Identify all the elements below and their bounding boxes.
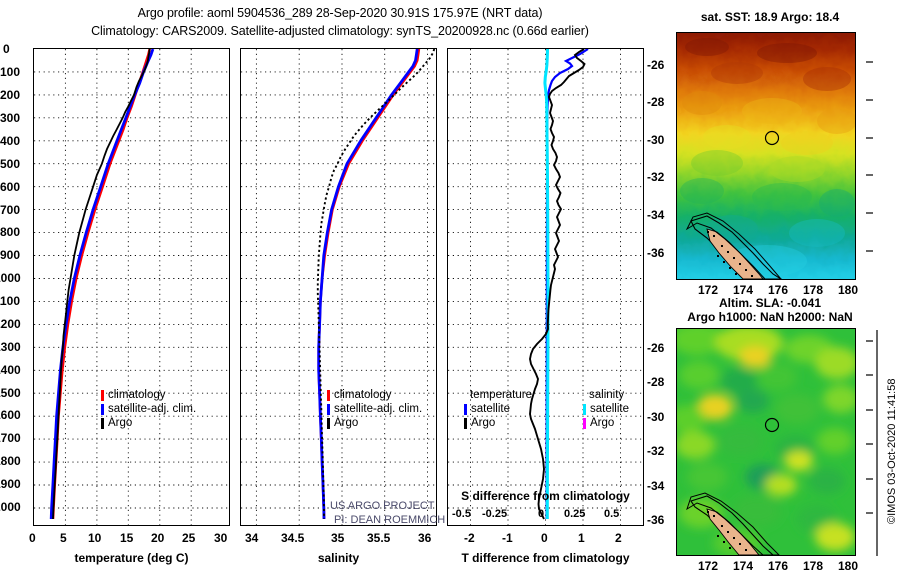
salinity-xtick: 34.5 (281, 531, 304, 545)
argo-swatch (101, 418, 104, 429)
sla-lon-tick: 174 (733, 559, 753, 573)
sla-lat-tick: -34 (647, 479, 664, 493)
sla-lat-tick: -26 (647, 341, 664, 355)
salinity-xtick: 35 (331, 531, 344, 545)
difference-s-xtick: -0.25 (482, 508, 507, 520)
sal-argo-swatch (583, 418, 586, 429)
depth-tick: 1600 (0, 408, 21, 422)
difference-t-xtick: -1 (502, 531, 513, 545)
temperature-xtick: 30 (214, 531, 227, 545)
legend-item: satellite (464, 402, 532, 416)
sst-lat-tick: -36 (647, 246, 664, 260)
difference-temperature-legend: temperature satellite Argo (464, 388, 532, 430)
climatology-swatch (101, 390, 104, 401)
legend-label: Argo (590, 416, 614, 430)
salinity-xtick: 36 (418, 531, 431, 545)
depth-tick: 1000 (0, 271, 21, 285)
depth-tick: 500 (0, 157, 20, 171)
legend-header: salinity (589, 388, 624, 402)
legend-label: satellite (590, 402, 629, 416)
sla-lon-tick: 176 (768, 559, 788, 573)
difference-s-xtick: 0 (538, 508, 544, 520)
sla-lat-tick: -36 (647, 513, 664, 527)
depth-tick: 1300 (0, 340, 21, 354)
legend-item: Argo (583, 416, 629, 430)
temperature-axis-label: temperature (deg C) (33, 551, 230, 565)
sla-lon-tick: 178 (803, 559, 823, 573)
legend-label: satellite-adj. clim. (108, 402, 196, 416)
sst-lat-tick: -32 (647, 170, 664, 184)
legend-item: climatology (101, 388, 196, 402)
temperature-climatology-line (53, 49, 150, 519)
depth-tick: 100 (0, 65, 20, 79)
depth-tick: 400 (0, 134, 20, 148)
depth-tick: 2000 (0, 500, 21, 514)
legend-label: climatology (334, 388, 392, 402)
title-line-2: Climatology: CARS2009. Satellite-adjuste… (0, 24, 680, 38)
depth-tick: 1500 (0, 386, 21, 400)
temperature-xtick: 5 (60, 531, 67, 545)
right-tick-column (866, 330, 876, 556)
depth-tick: 900 (0, 248, 20, 262)
depth-tick: 1800 (0, 454, 21, 468)
sla-lat-tick: -30 (647, 410, 664, 424)
difference-s-xtick: 0.25 (564, 508, 585, 520)
salinity-panel (240, 48, 437, 526)
sst-lon-tick: 180 (838, 283, 858, 297)
argo-swatch (327, 418, 330, 429)
temperature-xtick: 15 (120, 531, 133, 545)
sst-lon-tick: 174 (733, 283, 753, 297)
title-line-1: Argo profile: aoml 5904536_289 28-Sep-20… (0, 6, 680, 20)
right-edge-rule (876, 330, 880, 556)
temperature-xtick: 0 (29, 531, 36, 545)
temp-satellite-swatch (464, 404, 467, 415)
temperature-satellite-line (51, 49, 153, 519)
temperature-xtick: 25 (182, 531, 195, 545)
salinity-xtick: 34 (245, 531, 258, 545)
legend-label: Argo (471, 416, 495, 430)
sla-lat-tick: -32 (647, 444, 664, 458)
legend-item: Argo (327, 416, 422, 430)
depth-tick: 1200 (0, 317, 21, 331)
sal-satellite-swatch (583, 404, 586, 415)
difference-panel (447, 48, 644, 526)
legend-label: Argo (108, 416, 132, 430)
sst-lon-tick: 178 (803, 283, 823, 297)
difference-s-axis-label: S difference from climatology (447, 489, 644, 503)
difference-salinity-legend: salinity satellite Argo (583, 388, 629, 430)
legend-header-row: temperature (464, 388, 532, 402)
depth-tick: 1700 (0, 431, 21, 445)
legend-item: satellite (583, 402, 629, 416)
sla-lon-tick: 180 (838, 559, 858, 573)
temperature-legend: climatology satellite-adj. clim. Argo (101, 388, 196, 430)
sst-lat-tick: -30 (647, 133, 664, 147)
depth-tick: 0 (3, 42, 10, 56)
legend-label: satellite (471, 402, 510, 416)
copyright-label: ©IMOS 03-Oct-2020 11:41:58 (886, 379, 898, 524)
pi-credit: PI: DEAN ROEMMICH (334, 514, 445, 526)
sst-lon-tick: 172 (698, 283, 718, 297)
difference-s-xtick: -0.5 (452, 508, 471, 520)
temp-argo-swatch (464, 418, 467, 429)
altim-sla-label: Altim. SLA: -0.041 (660, 296, 880, 310)
satellite-adj-swatch (327, 404, 330, 415)
sst-lat-tick: -26 (647, 58, 664, 72)
depth-tick: 1100 (0, 294, 20, 308)
legend-header-row: salinity (583, 388, 629, 402)
difference-t-xtick: 2 (615, 531, 622, 545)
temperature-xtick: 20 (151, 531, 164, 545)
sla-lon-tick: 172 (698, 559, 718, 573)
legend-header: temperature (470, 388, 532, 402)
legend-label: climatology (108, 388, 166, 402)
sla-map (676, 328, 856, 556)
depth-tick: 800 (0, 225, 20, 239)
depth-tick: 200 (0, 88, 20, 102)
difference-argo-line (530, 49, 585, 519)
salinity-legend: climatology satellite-adj. clim. Argo (327, 388, 422, 430)
legend-label: satellite-adj. clim. (334, 402, 422, 416)
depth-tick: 700 (0, 203, 20, 217)
legend-label: Argo (334, 416, 358, 430)
sst-map-header: sat. SST: 18.9 Argo: 18.4 (660, 10, 880, 24)
difference-t-xtick: -2 (464, 531, 475, 545)
project-credit: US ARGO PROJECT (330, 500, 435, 512)
salinity-axis-label: salinity (240, 551, 437, 565)
climatology-swatch (327, 390, 330, 401)
right-tick-column-upper (866, 34, 876, 280)
legend-item: satellite-adj. clim. (101, 402, 196, 416)
temperature-panel (33, 48, 230, 526)
legend-item: satellite-adj. clim. (327, 402, 422, 416)
depth-tick: 1400 (0, 363, 21, 377)
legend-item: Argo (464, 416, 532, 430)
difference-t-xtick: 0 (541, 531, 548, 545)
satellite-adj-swatch (101, 404, 104, 415)
salinity-xtick: 35.5 (367, 531, 390, 545)
legend-item: climatology (327, 388, 422, 402)
difference-t-xtick: 1 (578, 531, 585, 545)
sst-map (676, 32, 856, 280)
depth-tick: 300 (0, 111, 20, 125)
sst-lat-tick: -34 (647, 208, 664, 222)
sst-lat-tick: -28 (647, 95, 664, 109)
sst-lon-tick: 176 (768, 283, 788, 297)
sla-lat-tick: -28 (647, 375, 664, 389)
temperature-argo-line (53, 49, 150, 519)
temperature-xtick: 10 (88, 531, 101, 545)
difference-t-axis-label: T difference from climatology (447, 551, 644, 565)
legend-item: Argo (101, 416, 196, 430)
difference-s-xtick: 0.5 (604, 508, 619, 520)
sla-map-header: Argo h1000: NaN h2000: NaN (660, 310, 880, 324)
depth-tick: 1900 (0, 477, 21, 491)
depth-tick: 600 (0, 180, 20, 194)
